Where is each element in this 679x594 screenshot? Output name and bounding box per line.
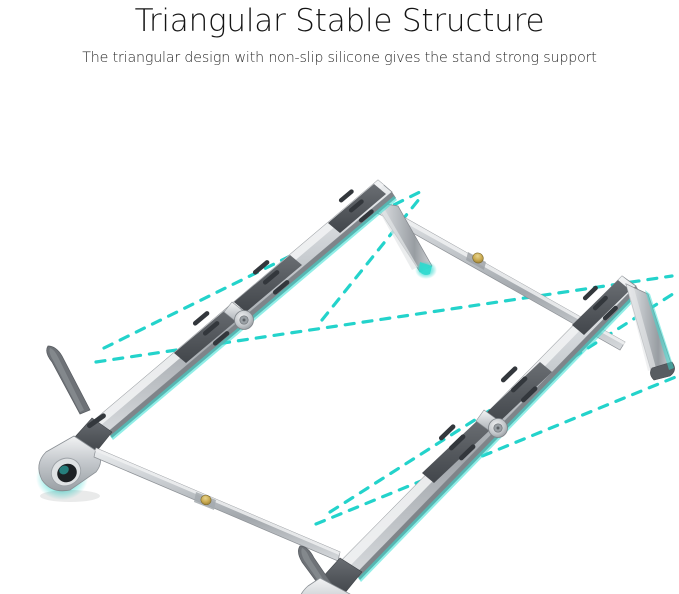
- header: Triangular Stable Structure The triangul…: [0, 0, 679, 67]
- product-feature-page: Triangular Stable Structure The triangul…: [0, 0, 679, 594]
- upper-left-rail: [92, 180, 397, 440]
- lower-right-rail: [340, 276, 641, 582]
- lower-crossbar: [94, 448, 340, 561]
- left-foot-shadow: [40, 490, 100, 502]
- page-title: Triangular Stable Structure: [0, 0, 679, 40]
- page-subtitle: The triangular design with non-slip sili…: [0, 40, 679, 67]
- product-image: Aluminum laptop stand viewed from above …: [0, 80, 679, 594]
- guide-line-bottom-diagonal: [316, 376, 678, 524]
- lower-crossbar-highlight: [95, 448, 340, 555]
- upper-hinge-screw-center: [243, 319, 246, 322]
- laptop-stand-illustration: Aluminum laptop stand viewed from above …: [0, 80, 679, 594]
- left-stopper-highlight: [49, 348, 84, 412]
- lower-hinge-screw-center: [497, 427, 500, 430]
